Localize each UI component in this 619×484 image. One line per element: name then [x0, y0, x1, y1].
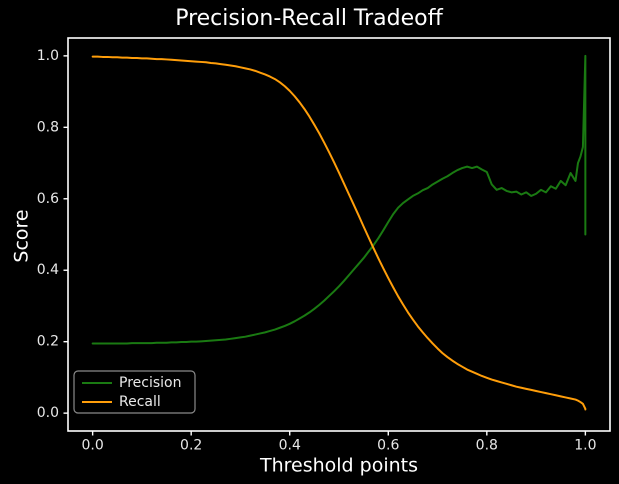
page-title: Precision-Recall Tradeoff: [175, 6, 443, 31]
precision-recall-chart: Precision-Recall Tradeoff 0.00.20.40.60.…: [0, 0, 619, 484]
x-axis-label: Threshold points: [259, 455, 418, 477]
y-axis-label: Score: [11, 209, 33, 262]
y-tick-label-0: 0.0: [37, 405, 59, 421]
y-tick-label-5: 1.0: [37, 48, 59, 64]
y-tick-label-1: 0.2: [37, 334, 59, 350]
y-tick-label-4: 0.8: [37, 119, 59, 135]
legend-label-recall: Recall: [119, 394, 161, 410]
chart-legend[interactable]: PrecisionRecall: [74, 371, 195, 413]
legend-label-precision: Precision: [119, 375, 181, 391]
x-tick-label-0: 0.0: [82, 438, 104, 454]
y-tick-label-2: 0.4: [37, 262, 59, 278]
chart-page: Precision-Recall Tradeoff 0.00.20.40.60.…: [0, 0, 619, 484]
y-tick-label-3: 0.6: [37, 191, 59, 207]
x-tick-label-2: 0.4: [279, 438, 301, 454]
x-tick-label-5: 1.0: [574, 438, 596, 454]
x-tick-label-1: 0.2: [180, 438, 202, 454]
x-tick-label-4: 0.8: [476, 438, 498, 454]
x-tick-label-3: 0.6: [377, 438, 399, 454]
